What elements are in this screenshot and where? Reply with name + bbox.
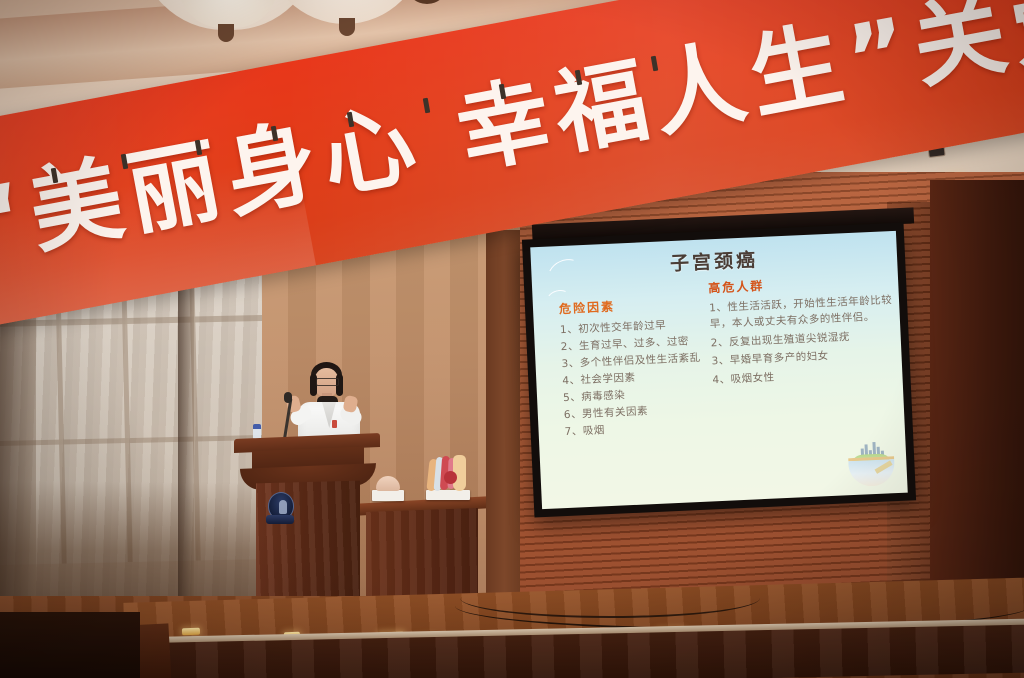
slide-column-high-risk-groups: 高危人群 1、性生活活跃，开始性生活年龄比较早，本人或丈夫有众多的性伴侣。 2、…	[708, 271, 899, 392]
auditorium-photo: 子宫颈癌 危险因素 1、初次性交年龄过早 2、生育过早、过多、过密 3、多个性伴…	[0, 0, 1024, 678]
slide-column-risk-factors: 危险因素 1、初次性交年龄过早 2、生育过早、过多、过密 3、多个性伴侣及性生活…	[559, 293, 715, 441]
presentation-slide: 子宫颈癌 危险因素 1、初次性交年龄过早 2、生育过早、过多、过密 3、多个性伴…	[530, 231, 908, 509]
list-item: 1、性生活活跃，开始性生活年龄比较早，本人或丈夫有众多的性伴侣。	[709, 293, 896, 333]
glasses-icon	[316, 378, 339, 386]
slide-heading-high-risk-groups: 高危人群	[708, 271, 895, 296]
globe-bowl-decoration-icon	[848, 445, 896, 487]
pelvic-anatomical-model	[428, 455, 468, 493]
foreground-shadow	[0, 612, 140, 678]
slide-heading-risk-factors: 危险因素	[559, 293, 710, 317]
floor-light-reflection	[182, 628, 200, 636]
projection-screen: 子宫颈癌 危险因素 1、初次性交年龄过早 2、生育过早、过多、过密 3、多个性伴…	[522, 222, 916, 517]
slide-list-high-risk-groups: 1、性生活活跃，开始性生活年龄比较早，本人或丈夫有众多的性伴侣。 2、反复出现生…	[709, 293, 899, 389]
lapel-badge	[332, 420, 337, 428]
model-base	[372, 490, 404, 501]
slide-list-risk-factors: 1、初次性交年龄过早 2、生育过早、过多、过密 3、多个性伴侣及性生活紊乱 4、…	[560, 315, 715, 441]
microphone-icon	[284, 392, 292, 403]
podium-crest-emblem-icon	[266, 492, 294, 526]
